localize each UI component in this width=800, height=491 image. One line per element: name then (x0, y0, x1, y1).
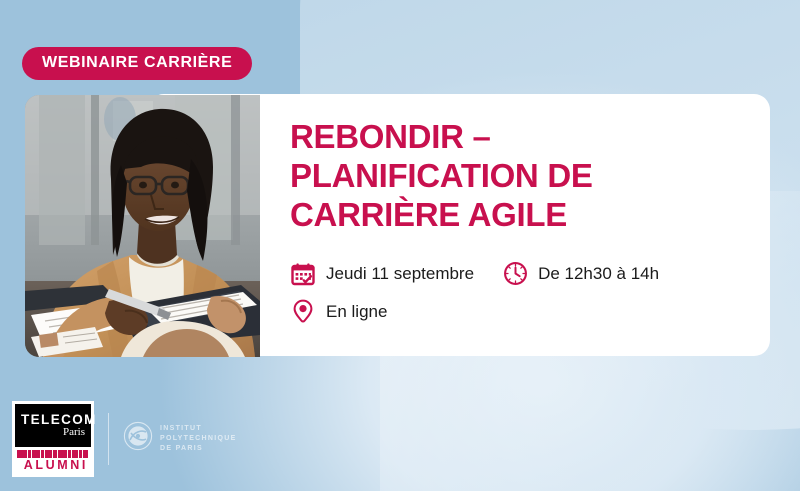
calendar-icon (290, 261, 316, 287)
meta-row-date-time: Jeudi 11 septembre (290, 261, 760, 287)
event-time-label: De 12h30 à 14h (538, 264, 659, 284)
title-line-2: PLANIFICATION DE (290, 157, 760, 196)
map-pin-icon (290, 299, 316, 325)
ipp-line-3: DE PARIS (160, 444, 237, 454)
event-meta: Jeudi 11 septembre (290, 261, 760, 325)
event-date-label: Jeudi 11 septembre (326, 264, 474, 284)
meta-row-location: En ligne (290, 299, 760, 325)
institut-polytechnique-de-paris-logo: INSTITUT POLYTECHNIQUE DE PARIS (123, 421, 237, 456)
telecom-wordmark: TELECOM (21, 413, 85, 427)
telecom-paris-mark: TELECOM Paris (15, 404, 91, 447)
ipp-seal-icon (123, 421, 153, 456)
paris-wordmark: Paris (21, 426, 85, 439)
title-line-1: REBONDIR – (290, 118, 760, 157)
event-photo (25, 95, 260, 357)
event-time: De 12h30 à 14h (502, 261, 659, 287)
ipp-line-1: INSTITUT (160, 424, 237, 434)
status-badge: WEBINAIRE CARRIÈRE (22, 47, 252, 80)
photo-illustration (25, 95, 260, 357)
page-title: REBONDIR – PLANIFICATION DE CARRIÈRE AGI… (290, 118, 760, 235)
ipp-wordmark: INSTITUT POLYTECHNIQUE DE PARIS (160, 424, 237, 454)
alumni-bars-decoration (17, 450, 89, 458)
logo-group: TELECOM Paris ALUMNI (12, 401, 237, 477)
event-location: En ligne (290, 299, 387, 325)
event-location-label: En ligne (326, 302, 387, 322)
logo-divider (108, 413, 109, 465)
alumni-wordmark: ALUMNI (17, 459, 89, 472)
telecom-paris-alumni-logo: TELECOM Paris ALUMNI (12, 401, 94, 477)
event-date: Jeudi 11 septembre (290, 261, 474, 287)
card-body: REBONDIR – PLANIFICATION DE CARRIÈRE AGI… (290, 118, 760, 325)
title-line-3: CARRIÈRE AGILE (290, 196, 760, 235)
clock-icon (502, 261, 528, 287)
webinar-banner: WEBINAIRE CARRIÈRE (0, 0, 800, 491)
ipp-line-2: POLYTECHNIQUE (160, 434, 237, 444)
alumni-mark: ALUMNI (15, 447, 91, 475)
